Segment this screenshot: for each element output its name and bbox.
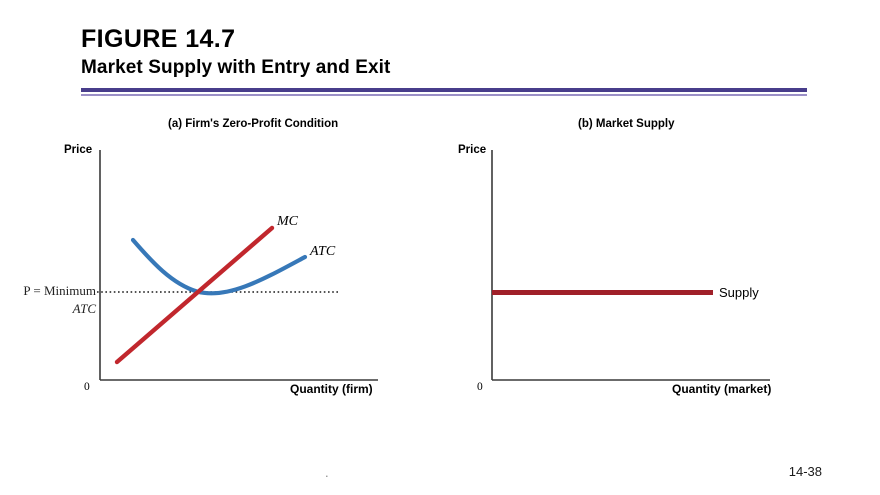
atc-curve xyxy=(133,240,305,293)
slide-number: 14-38 xyxy=(789,464,822,479)
footer-dot: . xyxy=(325,466,329,479)
figure-plot-area xyxy=(0,0,880,495)
panel-a-axes xyxy=(100,150,378,380)
slide-canvas: FIGURE 14.7 Market Supply with Entry and… xyxy=(0,0,880,495)
panel-b-axes xyxy=(492,150,770,380)
